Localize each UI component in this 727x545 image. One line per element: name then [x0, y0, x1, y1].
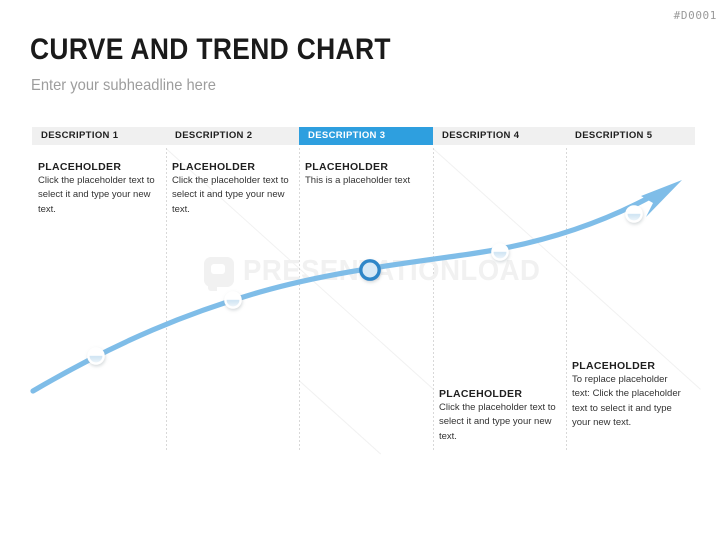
curve-marker [225, 292, 240, 307]
placeholder-body: Click the placeholder text to select it … [172, 174, 294, 217]
placeholder-body: This is a placeholder text [305, 174, 417, 188]
trend-curve-path [33, 196, 652, 391]
placeholder-title: PLACEHOLDER [172, 161, 294, 173]
column-header-5[interactable]: DESCRIPTION 5 [566, 127, 695, 145]
curve-arrowhead [641, 180, 682, 217]
placeholder-block-4[interactable]: PLACEHOLDER Click the placeholder text t… [439, 388, 563, 444]
placeholder-body: Click the placeholder text to select it … [439, 401, 563, 444]
placeholder-block-2[interactable]: PLACEHOLDER Click the placeholder text t… [172, 161, 294, 217]
placeholder-title: PLACEHOLDER [38, 161, 160, 173]
curve-marker [492, 244, 507, 259]
slide-canvas: #D0001 CURVE AND TREND CHART Enter your … [0, 0, 727, 545]
column-header-3[interactable]: DESCRIPTION 3 [299, 127, 433, 145]
curve-marker [88, 348, 103, 363]
trend-curve-chart [0, 0, 727, 545]
column-header-2[interactable]: DESCRIPTION 2 [166, 127, 299, 145]
column-header-4[interactable]: DESCRIPTION 4 [433, 127, 566, 145]
placeholder-body: Click the placeholder text to select it … [38, 174, 160, 217]
placeholder-title: PLACEHOLDER [439, 388, 563, 400]
placeholder-block-5[interactable]: PLACEHOLDER To replace placeholder text:… [572, 360, 688, 431]
placeholder-body: To replace placeholder text: Click the p… [572, 373, 688, 431]
column-header-1[interactable]: DESCRIPTION 1 [32, 127, 166, 145]
placeholder-block-1[interactable]: PLACEHOLDER Click the placeholder text t… [38, 161, 160, 217]
placeholder-title: PLACEHOLDER [572, 360, 688, 372]
placeholder-title: PLACEHOLDER [305, 161, 417, 173]
curve-marker-highlighted [361, 261, 379, 279]
placeholder-block-3[interactable]: PLACEHOLDER This is a placeholder text [305, 161, 417, 188]
curve-marker [626, 206, 641, 221]
